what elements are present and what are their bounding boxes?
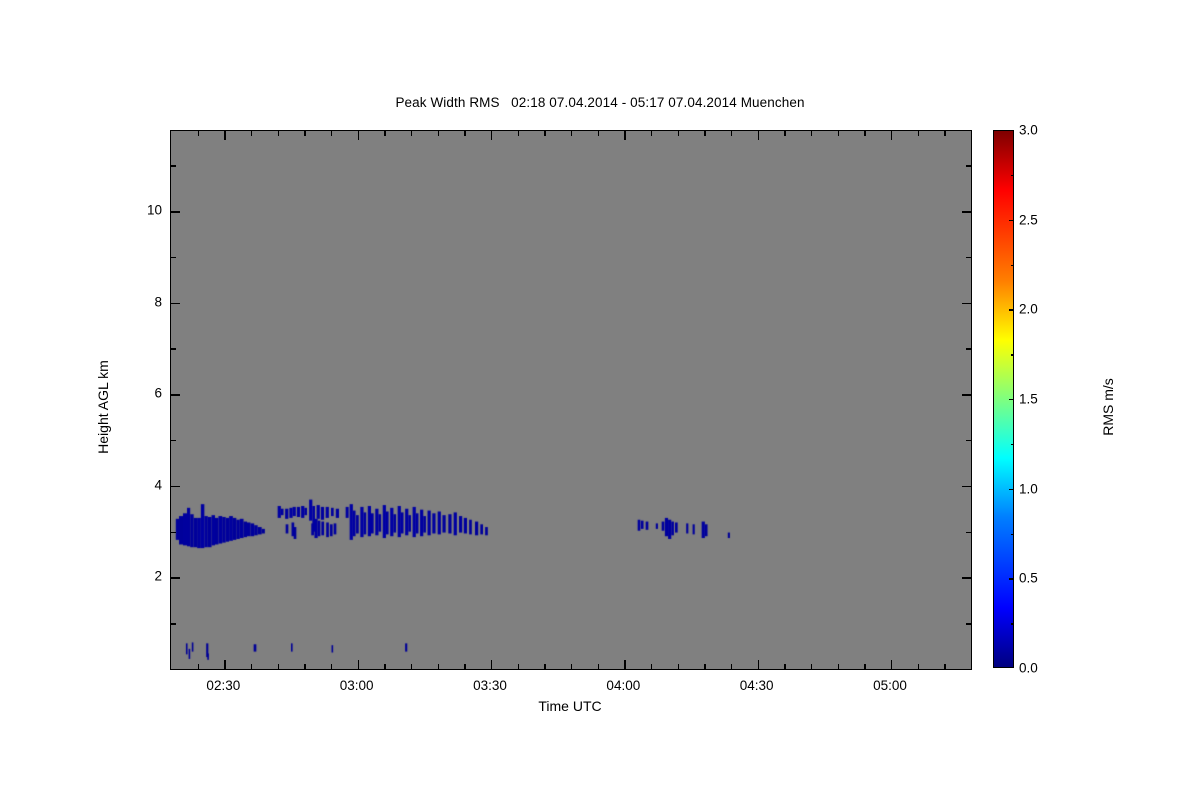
x-axis-minor-tick bbox=[544, 664, 545, 669]
colorbar-major-tick bbox=[1009, 130, 1014, 131]
y-axis-minor-tick-right bbox=[966, 348, 971, 349]
x-axis-minor-tick bbox=[304, 664, 305, 669]
heatmap-data-layer bbox=[171, 131, 971, 669]
x-axis-minor-tick-top bbox=[384, 131, 385, 136]
colorbar-minor-tick bbox=[1011, 175, 1014, 176]
x-axis-minor-tick-top bbox=[304, 131, 305, 136]
x-axis-minor-tick-top bbox=[411, 131, 412, 136]
x-axis-major-tick bbox=[624, 660, 625, 669]
x-axis-minor-tick bbox=[278, 664, 279, 669]
y-axis-minor-tick bbox=[171, 623, 176, 624]
colorbar-tick-label: 0.0 bbox=[1019, 661, 1038, 676]
x-axis-major-tick bbox=[358, 660, 359, 669]
chart-figure: Peak Width RMS 02:18 07.04.2014 - 05:17 … bbox=[0, 0, 1200, 800]
x-axis-minor-tick-top bbox=[331, 131, 332, 136]
y-axis-minor-tick bbox=[171, 440, 176, 441]
x-axis-major-tick bbox=[491, 660, 492, 669]
y-axis-major-tick-right bbox=[962, 486, 971, 487]
colorbar-tick-label: 2.5 bbox=[1019, 212, 1038, 227]
y-axis-minor-tick-right bbox=[966, 532, 971, 533]
x-axis-major-tick bbox=[891, 660, 892, 669]
x-axis-minor-tick bbox=[384, 664, 385, 669]
colorbar-tick-label: 3.0 bbox=[1019, 123, 1038, 138]
colorbar-tick-label: 1.0 bbox=[1019, 481, 1038, 496]
x-axis-minor-tick bbox=[651, 664, 652, 669]
x-axis-minor-tick bbox=[411, 664, 412, 669]
y-axis-minor-tick-right bbox=[966, 440, 971, 441]
x-axis-major-tick bbox=[224, 660, 225, 669]
x-axis-major-tick-top bbox=[758, 131, 759, 140]
x-axis-minor-tick-top bbox=[251, 131, 252, 136]
y-axis-tick-label: 2 bbox=[118, 569, 162, 584]
x-axis-minor-tick-top bbox=[784, 131, 785, 136]
y-axis-minor-tick-right bbox=[966, 257, 971, 258]
x-axis-major-tick bbox=[758, 660, 759, 669]
x-axis-minor-tick bbox=[518, 664, 519, 669]
x-axis-tick-label: 02:30 bbox=[206, 678, 240, 693]
x-axis-minor-tick bbox=[571, 664, 572, 669]
x-axis-major-tick-top bbox=[224, 131, 225, 140]
colorbar-minor-tick bbox=[1011, 534, 1014, 535]
x-axis-minor-tick-top bbox=[811, 131, 812, 136]
x-axis-minor-tick bbox=[784, 664, 785, 669]
x-axis-minor-tick-top bbox=[571, 131, 572, 136]
x-axis-minor-tick-top bbox=[598, 131, 599, 136]
colorbar-major-tick bbox=[1009, 399, 1014, 400]
x-axis-minor-tick bbox=[944, 664, 945, 669]
x-axis-tick-label: 04:00 bbox=[606, 678, 640, 693]
x-axis-minor-tick-top bbox=[918, 131, 919, 136]
y-axis-major-tick-right bbox=[962, 394, 971, 395]
x-axis-minor-tick bbox=[438, 664, 439, 669]
x-axis-minor-tick bbox=[864, 664, 865, 669]
y-axis-tick-label: 10 bbox=[118, 203, 162, 218]
x-axis-minor-tick bbox=[251, 664, 252, 669]
colorbar-major-tick bbox=[1009, 667, 1014, 668]
x-axis-minor-tick bbox=[704, 664, 705, 669]
y-axis-major-tick-right bbox=[962, 211, 971, 212]
colorbar-minor-tick bbox=[1011, 444, 1014, 445]
x-axis-minor-tick-top bbox=[864, 131, 865, 136]
x-axis-tick-label: 03:00 bbox=[340, 678, 374, 693]
colorbar-minor-tick bbox=[1011, 265, 1014, 266]
x-axis-major-tick-top bbox=[624, 131, 625, 140]
x-axis-minor-tick-top bbox=[438, 131, 439, 136]
colorbar-major-tick bbox=[1009, 220, 1014, 221]
x-axis-minor-tick-top bbox=[518, 131, 519, 136]
x-axis-minor-tick-top bbox=[464, 131, 465, 136]
x-axis-title: Time UTC bbox=[170, 698, 970, 714]
y-axis-major-tick bbox=[171, 577, 180, 578]
x-axis-major-tick-top bbox=[358, 131, 359, 140]
x-axis-minor-tick-top bbox=[278, 131, 279, 136]
x-axis-minor-tick-top bbox=[838, 131, 839, 136]
x-axis-minor-tick bbox=[838, 664, 839, 669]
x-axis-tick-label: 03:30 bbox=[473, 678, 507, 693]
x-axis-minor-tick-top bbox=[678, 131, 679, 136]
x-axis-tick-label: 05:00 bbox=[873, 678, 907, 693]
x-axis-minor-tick bbox=[731, 664, 732, 669]
x-axis-minor-tick-top bbox=[731, 131, 732, 136]
x-axis-tick-label: 04:30 bbox=[740, 678, 774, 693]
colorbar[interactable] bbox=[993, 130, 1014, 668]
plot-area[interactable] bbox=[170, 130, 972, 670]
x-axis-minor-tick-top bbox=[651, 131, 652, 136]
chart-title: Peak Width RMS 02:18 07.04.2014 - 05:17 … bbox=[0, 95, 1200, 110]
y-axis-tick-label: 6 bbox=[118, 386, 162, 401]
x-axis-minor-tick bbox=[464, 664, 465, 669]
x-axis-minor-tick-top bbox=[944, 131, 945, 136]
x-axis-major-tick-top bbox=[491, 131, 492, 140]
y-axis-major-tick-right bbox=[962, 577, 971, 578]
y-axis-major-tick bbox=[171, 394, 180, 395]
y-axis-major-tick bbox=[171, 211, 180, 212]
x-axis-minor-tick bbox=[678, 664, 679, 669]
y-axis-minor-tick bbox=[171, 348, 176, 349]
x-axis-minor-tick-top bbox=[198, 131, 199, 136]
colorbar-minor-tick bbox=[1011, 354, 1014, 355]
y-axis-major-tick bbox=[171, 486, 180, 487]
x-axis-major-tick-top bbox=[891, 131, 892, 140]
y-axis-tick-label: 8 bbox=[118, 294, 162, 309]
x-axis-minor-tick bbox=[918, 664, 919, 669]
y-axis-major-tick bbox=[171, 303, 180, 304]
y-axis-minor-tick-right bbox=[966, 623, 971, 624]
x-axis-minor-tick-top bbox=[544, 131, 545, 136]
colorbar-tick-label: 1.5 bbox=[1019, 392, 1038, 407]
x-axis-minor-tick-top bbox=[704, 131, 705, 136]
colorbar-tick-label: 0.5 bbox=[1019, 571, 1038, 586]
x-axis-minor-tick bbox=[198, 664, 199, 669]
y-axis-minor-tick bbox=[171, 257, 176, 258]
x-axis-minor-tick bbox=[331, 664, 332, 669]
y-axis-minor-tick bbox=[171, 532, 176, 533]
x-axis-minor-tick bbox=[598, 664, 599, 669]
y-axis-tick-label: 4 bbox=[118, 477, 162, 492]
y-axis-major-tick-right bbox=[962, 303, 971, 304]
colorbar-major-tick bbox=[1009, 489, 1014, 490]
y-axis-title: Height AGL km bbox=[95, 297, 111, 517]
colorbar-minor-tick bbox=[1011, 623, 1014, 624]
colorbar-title: RMS m/s bbox=[1100, 307, 1116, 507]
y-axis-minor-tick-right bbox=[966, 165, 971, 166]
colorbar-major-tick bbox=[1009, 578, 1014, 579]
colorbar-major-tick bbox=[1009, 309, 1014, 310]
x-axis-minor-tick bbox=[811, 664, 812, 669]
colorbar-tick-label: 2.0 bbox=[1019, 302, 1038, 317]
y-axis-minor-tick bbox=[171, 165, 176, 166]
